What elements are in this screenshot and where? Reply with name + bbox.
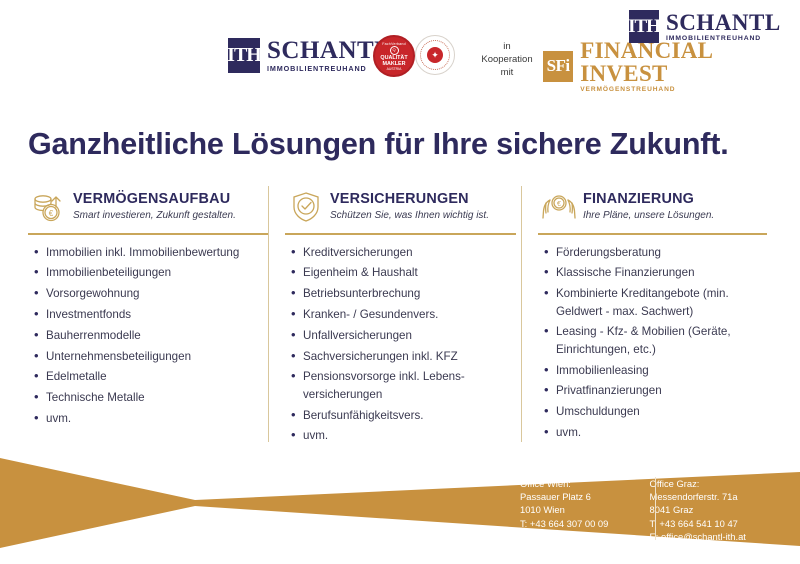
logo-schantl-immobilientreuhand-main: ITH SCHANTL IMMOBILIENTREUHAND	[228, 38, 391, 73]
list-item: Kreditversicherungen	[303, 244, 521, 261]
column-title-group: VERSICHERUNGEN Schützen Sie, was Ihnen w…	[330, 191, 489, 223]
logo-subtitle-vermoegenstreuhand: VERMÖGENSTREUHAND	[580, 87, 800, 94]
column-title-group: FINANZIERUNG Ihre Pläne, unsere Lösungen…	[583, 191, 714, 223]
coins-euro-growth-icon: €	[28, 191, 70, 223]
list-item: Pensionsvorsorge inkl. Lebens-versicheru…	[303, 368, 521, 403]
office-city: 1010 Wien	[520, 503, 621, 516]
cooperation-line-2: Kooperation	[478, 53, 536, 66]
list-item: Förderungsberatung	[556, 244, 772, 261]
seal-wirtschaftskammer-icon: ✦	[415, 35, 455, 75]
list-item: Immobilien inkl. Immobilienbewertung	[46, 244, 268, 261]
list-item: Kranken- / Gesundenvers.	[303, 306, 521, 323]
seal-crest-icon: ✦	[427, 47, 443, 63]
list-item: Vorsorgewohnung	[46, 285, 268, 302]
office-street: Passauer Platz 6	[520, 490, 621, 503]
list-item: Unternehmensbeteiligungen	[46, 348, 268, 365]
list-item: Immobilienleasing	[556, 362, 772, 379]
office-phone[interactable]: T: +43 664 307 00 09	[520, 517, 621, 530]
list-item: Bauherrenmodelle	[46, 327, 268, 344]
office-email[interactable]: E: office@sfi-invest.com	[520, 530, 621, 543]
office-title: Office Wien:	[520, 477, 621, 490]
seal-badge-letter: Q	[390, 46, 399, 55]
seal-top-text: FachVerband	[382, 42, 406, 46]
column-divider	[28, 233, 268, 235]
list-item: Immobilienbeteiligungen	[46, 264, 268, 281]
office-graz-block: Office Graz: Messendorferstr. 71a 8041 G…	[635, 477, 746, 543]
page-headline: Ganzheitliche Lösungen für Ihre sichere …	[28, 127, 728, 162]
feature-list-finanzierung: Förderungsberatung Klassische Finanzieru…	[538, 244, 772, 442]
list-item: Edelmetalle	[46, 368, 268, 385]
column-subtitle: Smart investieren, Zukunft gestalten.	[73, 209, 236, 223]
column-title-group: VERMÖGENSAUFBAU Smart investieren, Zukun…	[73, 191, 236, 223]
list-item: Sachversicherungen inkl. KFZ	[303, 348, 521, 365]
seal-ring: ✦	[420, 40, 450, 70]
ith-monogram-icon: ITH	[228, 38, 260, 73]
column-header: € VERMÖGENSAUFBAU Smart investieren, Zuk…	[28, 186, 268, 228]
shield-check-icon	[285, 191, 327, 223]
svg-text:€: €	[557, 201, 561, 208]
office-wien-block: Office Wien: Passauer Platz 6 1010 Wien …	[520, 477, 621, 543]
list-item: Umschuldungen	[556, 403, 772, 420]
feature-list-versicherungen: Kreditversicherungen Eigenheim & Haushal…	[285, 244, 521, 445]
office-street: Messendorferstr. 71a	[650, 490, 746, 503]
office-phone[interactable]: T: +43 664 541 10 47	[650, 517, 746, 530]
list-item: Technische Metalle	[46, 389, 268, 406]
column-title: VERSICHERUNGEN	[330, 191, 489, 208]
list-item: Unfallversicherungen	[303, 327, 521, 344]
cooperation-note: in Kooperation mit	[478, 40, 536, 79]
list-item: Betriebsunterbrechung	[303, 285, 521, 302]
column-header: € FINANZIERUNG Ihre Pläne, unsere Lösung…	[538, 186, 772, 228]
list-item: Berufsunfähigkeitsvers.	[303, 407, 521, 424]
footer-contacts: Office Wien: Passauer Platz 6 1010 Wien …	[520, 477, 746, 543]
list-item: Klassische Finanzierungen	[556, 264, 772, 281]
list-item: Privatfinanzierungen	[556, 382, 772, 399]
seal-bottom-text: AUSTRIA	[387, 67, 402, 71]
column-header: VERSICHERUNGEN Schützen Sie, was Ihnen w…	[285, 186, 521, 228]
seal-qualitaetsmakler-icon: FachVerband Q QUALITÄT MAKLER AUSTRIA	[373, 35, 415, 77]
column-title: VERMÖGENSAUFBAU	[73, 191, 236, 208]
contacts-divider	[655, 477, 656, 540]
list-item: uvm.	[46, 410, 268, 427]
hands-holding-coin-icon: €	[538, 191, 580, 223]
column-title: FINANZIERUNG	[583, 191, 714, 208]
column-versicherungen: VERSICHERUNGEN Schützen Sie, was Ihnen w…	[268, 186, 521, 448]
cooperation-line-3: mit	[478, 66, 536, 79]
cooperation-line-1: in	[478, 40, 536, 53]
logo-subtitle-immobilientreuhand-top: IMMOBILIENTREUHAND	[666, 36, 781, 43]
logo-sfi-financial-invest: SFi FINANCIAL INVEST VERMÖGENSTREUHAND	[543, 39, 800, 94]
header-logo-strip: ITH SCHANTL IMMOBILIENTREUHAND FachVerba…	[0, 0, 800, 105]
sfi-monogram-icon: SFi	[543, 51, 573, 82]
feature-list-vermoegensaufbau: Immobilien inkl. Immobilienbewertung Imm…	[28, 244, 268, 428]
list-item: uvm.	[556, 424, 772, 441]
office-email[interactable]: E: office@schantl-ith.at	[650, 530, 746, 543]
column-divider	[285, 233, 516, 235]
column-subtitle: Ihre Pläne, unsere Lösungen.	[583, 209, 714, 223]
list-item: Kombinierte Kreditangebote (min. Geldwer…	[556, 285, 772, 320]
logo-subtitle-immobilientreuhand: IMMOBILIENTREUHAND	[267, 65, 391, 72]
logo-name-financial-invest: FINANCIAL INVEST	[580, 39, 800, 85]
office-title: Office Graz:	[650, 477, 746, 490]
service-columns: € VERMÖGENSAUFBAU Smart investieren, Zuk…	[28, 186, 772, 448]
column-subtitle: Schützen Sie, was Ihnen wichtig ist.	[330, 209, 489, 223]
list-item: Investmentfonds	[46, 306, 268, 323]
list-item: Leasing - Kfz- & Mobilien (Geräte, Einri…	[556, 323, 772, 358]
logo-name-schantl-top: SCHANTL	[666, 11, 781, 34]
column-divider	[538, 233, 767, 235]
ith-monogram-icon-top: ITH	[629, 10, 659, 43]
list-item: Eigenheim & Haushalt	[303, 264, 521, 281]
column-finanzierung: € FINANZIERUNG Ihre Pläne, unsere Lösung…	[521, 186, 772, 448]
office-city: 8041 Graz	[650, 503, 746, 516]
svg-text:€: €	[49, 209, 54, 218]
logo-schantl-immobilientreuhand-top: ITH SCHANTL IMMOBILIENTREUHAND	[629, 10, 781, 43]
column-vermoegensaufbau: € VERMÖGENSAUFBAU Smart investieren, Zuk…	[28, 186, 268, 448]
